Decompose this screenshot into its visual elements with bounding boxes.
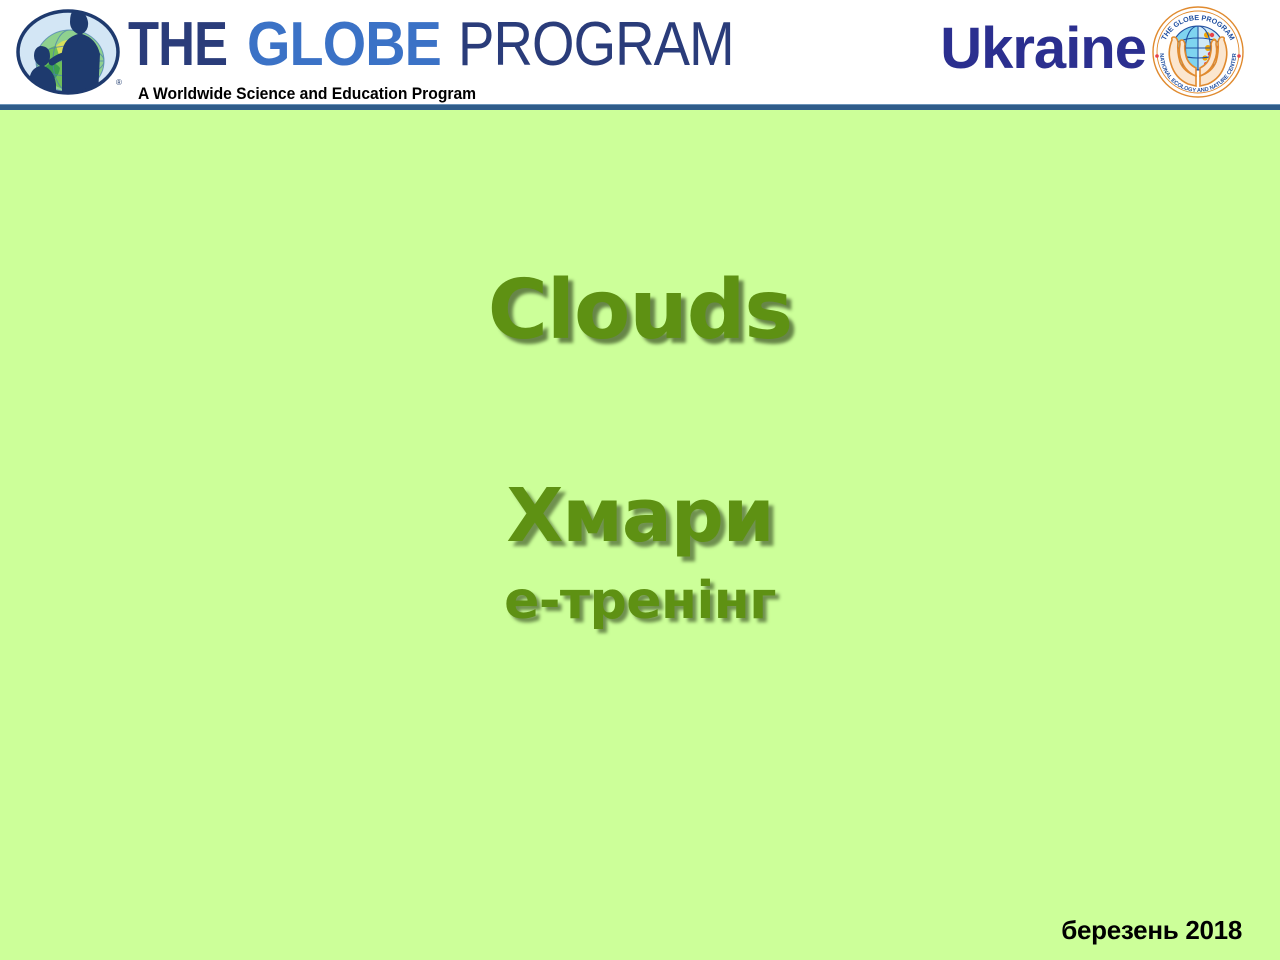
slide-footer-date: березень 2018 — [1061, 915, 1242, 946]
slide-subtitle-ukrainian: е-тренінг — [0, 575, 1280, 627]
svg-text:®: ® — [116, 78, 122, 87]
globe-program-emblem-icon: ® — [12, 6, 124, 98]
slide-title-ukrainian: Хмари — [0, 479, 1280, 553]
globe-program-wordmark: THEGLOBEPROGRAM — [128, 14, 772, 76]
wordmark-globe: GLOBE — [247, 14, 441, 76]
globe-program-tagline: A Worldwide Science and Education Progra… — [138, 84, 476, 104]
wordmark-the: THE — [128, 14, 227, 76]
slide-body: Clouds Хмари е-тренінг березень 2018 — [0, 109, 1280, 960]
slide: ® THEGLOBEPROGRAM A Worldwide Science an… — [0, 0, 1280, 960]
country-name: Ukraine — [940, 20, 1146, 78]
slide-header: ® THEGLOBEPROGRAM A Worldwide Science an… — [0, 0, 1280, 106]
slide-title-english: Clouds — [0, 270, 1280, 352]
national-ecology-and-nature-center-seal-icon: THE GLOBE PROGRAM NATIONAL ECOLOGY AND N… — [1150, 4, 1246, 100]
wordmark-program: PROGRAM — [458, 14, 734, 76]
